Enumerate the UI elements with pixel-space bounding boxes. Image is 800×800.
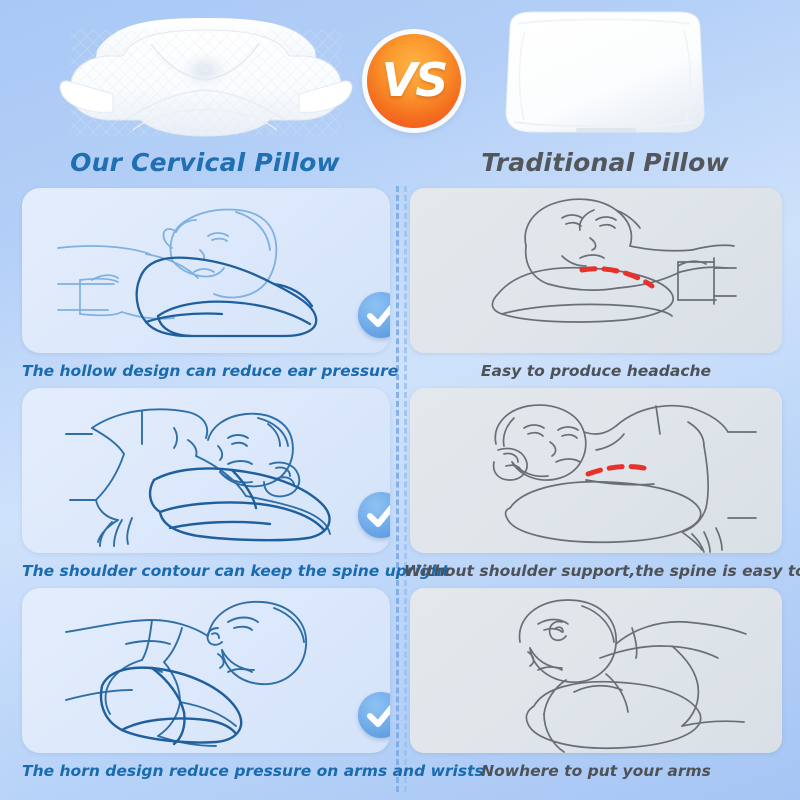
bad-illustration-side-sleeping: X bbox=[410, 388, 782, 553]
good-illustration-arm-support bbox=[22, 588, 390, 753]
good-caption-2: The shoulder contour can keep the spine … bbox=[22, 554, 390, 588]
bad-illustration-back-sleeping: X bbox=[410, 188, 782, 353]
bad-caption-2: Without shoulder support,the spine is ea… bbox=[404, 554, 788, 588]
comparison-row-1: X The hollow design can reduce ear press… bbox=[0, 188, 800, 388]
hero-section: VS Our Cervical Pillow Traditional Pillo… bbox=[0, 0, 800, 185]
good-caption-3: The horn design reduce pressure on arms … bbox=[22, 754, 390, 788]
traditional-pillow-photo bbox=[488, 4, 720, 144]
comparison-row-3: X The horn design reduce pressure on arm… bbox=[0, 588, 800, 788]
traditional-pillow-heading: Traditional Pillow bbox=[470, 148, 740, 177]
vs-badge: VS bbox=[367, 34, 461, 128]
check-badge bbox=[358, 492, 390, 538]
bad-caption-3: Nowhere to put your arms bbox=[404, 754, 788, 788]
comparison-row-2: X The shoulder contour can keep the spin… bbox=[0, 388, 800, 588]
check-badge bbox=[358, 692, 390, 738]
bad-caption-1: Easy to produce headache bbox=[404, 354, 788, 388]
good-illustration-side-sleeping bbox=[22, 388, 390, 553]
cervical-pillow-photo bbox=[55, 4, 355, 144]
cervical-pillow-heading: Our Cervical Pillow bbox=[60, 148, 350, 177]
vs-label: VS bbox=[382, 57, 447, 103]
check-badge bbox=[358, 292, 390, 338]
infographic-root: VS Our Cervical Pillow Traditional Pillo… bbox=[0, 0, 800, 800]
good-illustration-back-sleeping bbox=[22, 188, 390, 353]
bad-illustration-arm-support: X bbox=[410, 588, 782, 753]
good-caption-1: The hollow design can reduce ear pressur… bbox=[22, 354, 390, 388]
